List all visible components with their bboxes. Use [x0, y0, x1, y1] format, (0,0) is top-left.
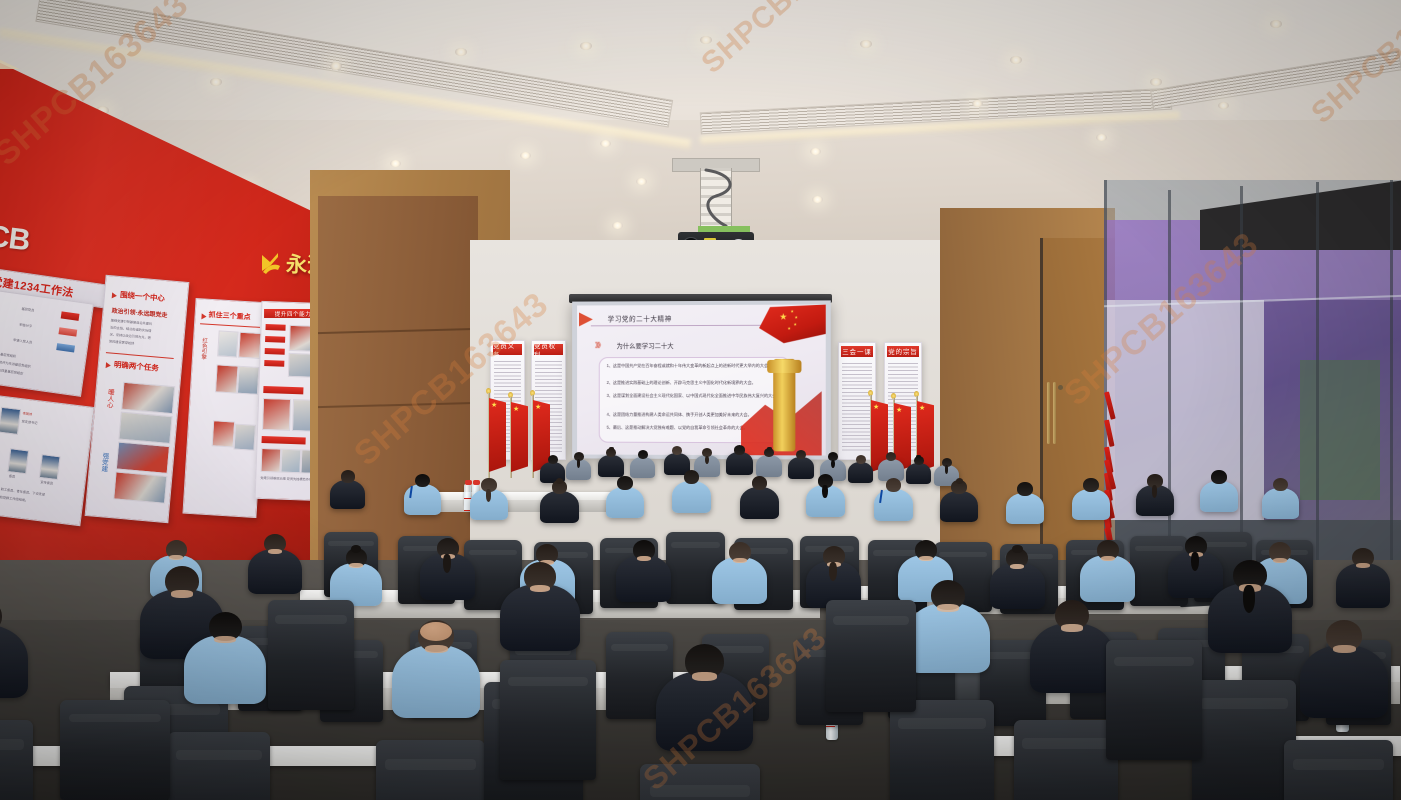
person-bald-head	[420, 622, 452, 641]
person-neck	[425, 645, 448, 653]
person-torso	[656, 671, 753, 752]
person-torso	[1300, 645, 1388, 719]
person-torso	[1030, 623, 1114, 693]
chair[interactable]	[890, 700, 994, 800]
chair[interactable]	[0, 720, 33, 800]
audience-person	[184, 612, 266, 710]
person-torso	[906, 603, 990, 673]
person-torso	[0, 625, 28, 699]
person-neck	[530, 585, 551, 592]
person-torso	[500, 584, 580, 651]
audience-person	[500, 562, 580, 657]
audience-person	[1030, 600, 1114, 700]
person-neck	[1061, 624, 1083, 632]
chair[interactable]	[1284, 740, 1393, 800]
chair[interactable]	[1106, 640, 1202, 760]
person-torso	[392, 645, 480, 719]
audience-person	[0, 600, 28, 705]
chair[interactable]	[268, 600, 354, 710]
chair[interactable]	[376, 740, 485, 800]
chair[interactable]	[826, 600, 916, 712]
person-neck	[214, 636, 235, 644]
audience-front-row	[0, 0, 1401, 800]
photo-scene: CB 党建1234工作法 永远跟党走 基层党员 积极分子 申请入党人员 区考评为…	[0, 0, 1401, 800]
person-torso	[184, 635, 266, 704]
chair[interactable]	[640, 764, 760, 800]
audience-person	[392, 620, 480, 725]
person-neck	[171, 590, 193, 598]
chair[interactable]	[168, 732, 270, 800]
person-neck	[692, 672, 717, 681]
audience-person	[656, 644, 753, 759]
chair[interactable]	[1014, 720, 1118, 800]
chair[interactable]	[500, 660, 596, 780]
person-neck	[1333, 645, 1356, 653]
chair[interactable]	[1192, 680, 1296, 800]
audience-person	[1300, 620, 1388, 725]
person-neck	[937, 604, 959, 612]
chair[interactable]	[60, 700, 170, 800]
audience-person	[1208, 560, 1292, 660]
audience-person	[906, 580, 990, 680]
